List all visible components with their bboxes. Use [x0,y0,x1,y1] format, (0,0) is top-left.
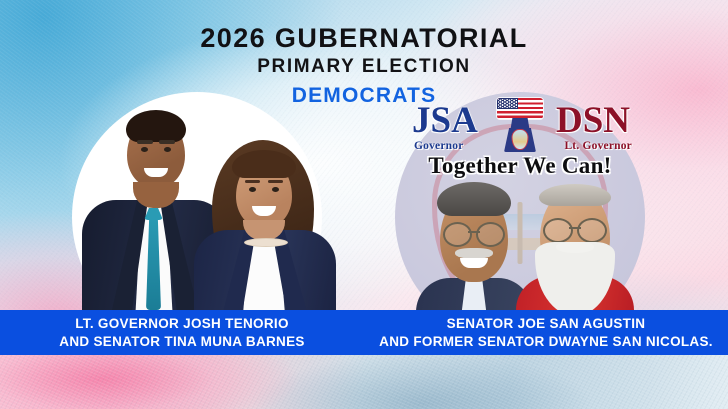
campaign-logo: JSA Governor DSN Lt. Governor Together W… [404,98,636,190]
bottom-watercolor-strip-grain [0,355,728,409]
logo-initials-governor: JSA [412,102,478,139]
portrait-dwayne-san-nicolas [518,184,632,316]
pearl-necklace [244,238,288,247]
headline-party-label: DEMOCRATS [0,85,728,107]
logo-tagline: Together We Can! [404,153,636,179]
caption-right-line-1: SENATOR JOE SAN AGUSTIN [364,315,728,332]
headline-line-2: PRIMARY ELECTION [0,57,728,77]
eyeglasses-icon [442,222,506,244]
logo-role-governor: Governor [414,140,464,152]
caption-right-line-2: AND FORMER SENATOR DWAYNE SAN NICOLAS. [364,333,728,350]
logo-initials-lt-governor: DSN [556,102,630,139]
headline-line-1: 2026 GUBERNATORIAL [0,24,728,52]
caption-left-line-2: AND SENATOR TINA MUNA BARNES [0,333,364,350]
portrait-tina-muna-barnes [188,134,340,316]
portrait-joe-san-agustin [420,182,526,316]
logo-role-lt-governor: Lt. Governor [564,140,632,152]
eyeglasses-icon [542,218,608,240]
left-candidate-portraits [50,96,350,316]
lower-third-caption-bar: LT. GOVERNOR JOSH TENORIO AND SENATOR TI… [0,310,728,355]
caption-left: LT. GOVERNOR JOSH TENORIO AND SENATOR TI… [0,315,364,350]
right-candidate-portraits [420,182,632,316]
headline-block: 2026 GUBERNATORIAL PRIMARY ELECTION DEMO… [0,24,728,107]
caption-right: SENATOR JOE SAN AGUSTIN AND FORMER SENAT… [364,315,728,350]
caption-left-line-1: LT. GOVERNOR JOSH TENORIO [0,315,364,332]
broadcast-graphic: 2026 GUBERNATORIAL PRIMARY ELECTION DEMO… [0,0,728,409]
